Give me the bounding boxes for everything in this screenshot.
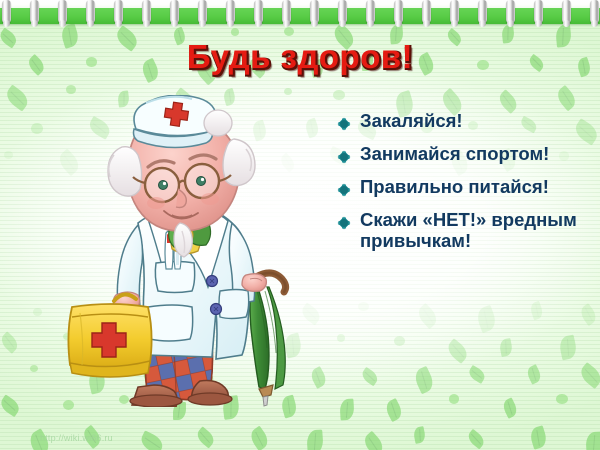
watermark-text: http://wiki.wi66.ru <box>40 433 113 443</box>
binding-ring <box>422 0 431 24</box>
binding-ring <box>478 0 487 24</box>
star-bullet-icon <box>336 147 352 167</box>
slide-canvas: Будь здоров! Закаляйся!Занимайся спортом… <box>0 0 600 450</box>
spiral-notebook-binding <box>0 0 600 26</box>
binding-ring <box>58 0 67 24</box>
bullet-text: Правильно питайся! <box>360 176 549 197</box>
binding-ring <box>114 0 123 24</box>
bullet-item: Скажи «НЕТ!» вредным привычкам! <box>336 209 594 252</box>
bullet-text: Закаляйся! <box>360 110 463 131</box>
binding-ring <box>590 0 599 24</box>
bullet-text: Занимайся спортом! <box>360 143 549 164</box>
page-title: Будь здоров! <box>0 38 600 76</box>
star-bullet-icon <box>336 213 352 233</box>
binding-ring <box>310 0 319 24</box>
binding-ring <box>506 0 515 24</box>
binding-ring <box>450 0 459 24</box>
binding-ring <box>282 0 291 24</box>
binding-ring <box>226 0 235 24</box>
star-bullet-icon <box>336 180 352 200</box>
binding-ring <box>170 0 179 24</box>
binding-ring <box>394 0 403 24</box>
binding-ring <box>534 0 543 24</box>
binding-ring <box>366 0 375 24</box>
binding-ring <box>2 0 11 24</box>
star-bullet-icon <box>336 114 352 134</box>
binding-ring <box>254 0 263 24</box>
cartoon-doctor-illustration <box>60 95 310 407</box>
binding-ring <box>86 0 95 24</box>
binding-ring <box>198 0 207 24</box>
binding-ring <box>142 0 151 24</box>
bullet-item: Занимайся спортом! <box>336 143 594 167</box>
binding-ring <box>30 0 39 24</box>
bullet-item: Закаляйся! <box>336 110 594 134</box>
binding-ring <box>338 0 347 24</box>
bullet-list: Закаляйся!Занимайся спортом!Правильно пи… <box>336 110 594 261</box>
bullet-text: Скажи «НЕТ!» вредным привычкам! <box>360 209 594 252</box>
binding-ring <box>562 0 571 24</box>
bullet-item: Правильно питайся! <box>336 176 594 200</box>
medical-bag <box>68 294 151 377</box>
